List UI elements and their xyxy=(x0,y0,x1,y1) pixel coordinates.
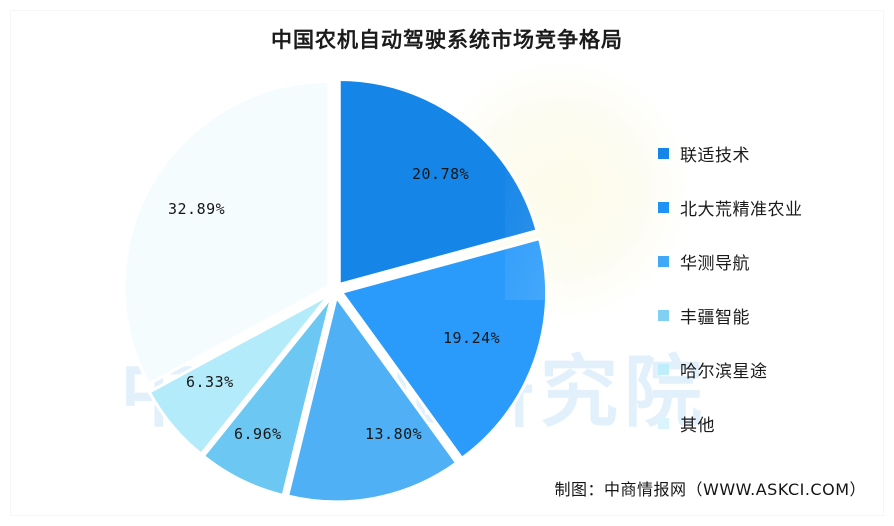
slice-highlight xyxy=(505,120,565,300)
slice-value-label: 32.89% xyxy=(168,200,225,218)
legend-swatch-icon xyxy=(658,148,669,159)
legend-swatch-icon xyxy=(658,202,669,213)
slice-value-label: 6.96% xyxy=(234,425,282,443)
legend-item[interactable]: 北大荒精准农业 xyxy=(658,180,868,234)
legend-item-label: 哈尔滨星途 xyxy=(680,357,768,382)
slice-value-label: 19.24% xyxy=(443,329,500,347)
legend-swatch-icon xyxy=(658,418,669,429)
legend-item-label: 联适技术 xyxy=(680,141,750,166)
chart-container: 中商产业研究院 中国农机自动驾驶系统市场竞争格局 20.78%19.24%13.… xyxy=(0,0,894,526)
legend-item-label: 其他 xyxy=(680,411,715,436)
slice-value-label: 13.80% xyxy=(365,425,422,443)
slice-value-label: 20.78% xyxy=(412,165,469,183)
legend-item-label: 华测导航 xyxy=(680,249,750,274)
legend-item-label: 北大荒精准农业 xyxy=(680,195,803,220)
legend-item-label: 丰疆智能 xyxy=(680,303,750,328)
legend-swatch-icon xyxy=(658,364,669,375)
source-note: 制图：中商情报网（WWW.ASKCI.COM） xyxy=(555,476,866,500)
legend-item[interactable]: 丰疆智能 xyxy=(658,288,868,342)
legend-swatch-icon xyxy=(658,256,669,267)
slice-value-label: 6.33% xyxy=(186,373,234,391)
legend-item[interactable]: 华测导航 xyxy=(658,234,868,288)
legend: 联适技术北大荒精准农业华测导航丰疆智能哈尔滨星途其他 xyxy=(658,126,868,450)
pie-slices xyxy=(124,79,565,501)
legend-item[interactable]: 联适技术 xyxy=(658,126,868,180)
legend-swatch-icon xyxy=(658,310,669,321)
legend-item[interactable]: 哈尔滨星途 xyxy=(658,342,868,396)
legend-item[interactable]: 其他 xyxy=(658,396,868,450)
